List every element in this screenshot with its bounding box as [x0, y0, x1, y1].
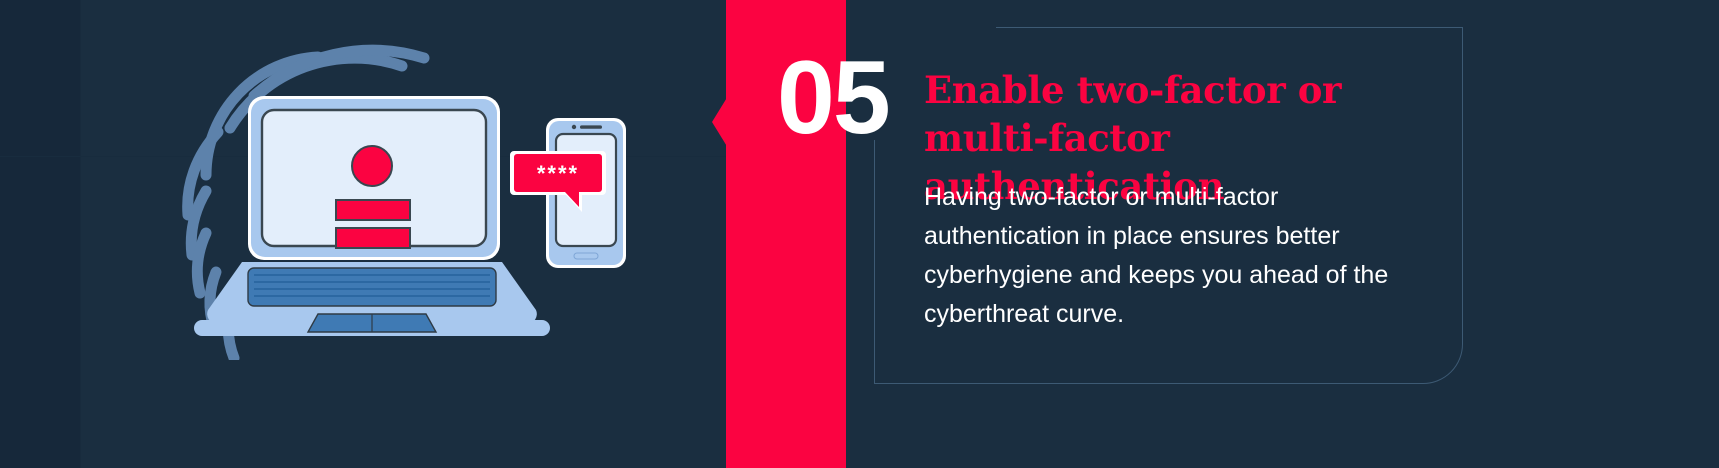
step-number: 05 — [777, 46, 907, 150]
background-panel-left — [0, 0, 80, 468]
laptop-base — [194, 262, 550, 336]
accent-band-notch — [712, 96, 728, 148]
step-body-text: Having two-factor or multi-factor authen… — [924, 178, 1424, 334]
infographic-card: **** 05 Enable two-factor or multi-facto… — [0, 0, 1719, 468]
password-bubble-text: **** — [537, 161, 579, 186]
background-seam-vertical — [80, 0, 81, 468]
illustration-laptop-phone-fingerprint: **** — [150, 10, 670, 360]
step-headline-line-1: Enable two-factor or — [924, 66, 1444, 114]
frame-mask-top — [866, 20, 996, 36]
